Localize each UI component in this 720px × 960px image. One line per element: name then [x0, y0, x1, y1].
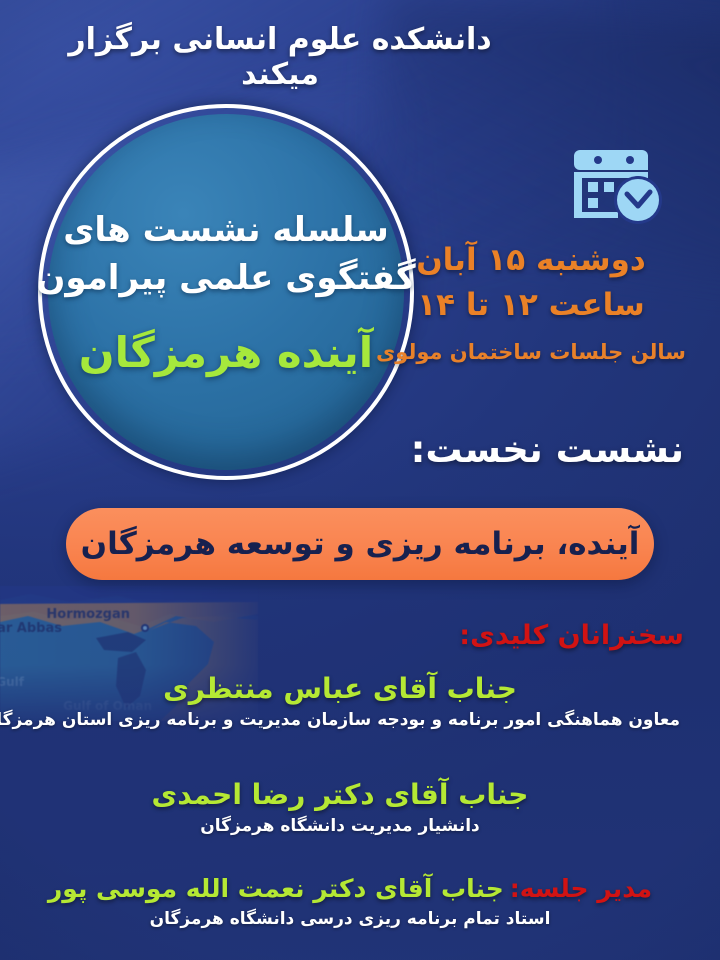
speaker-name: جناب آقای دکتر رضا احمدی [0, 778, 680, 811]
emblem-circle: سلسله نشست های گفتگوی علمی پیرامون آینده… [48, 114, 404, 470]
session-chair-row: مدیر جلسه:جناب آقای دکتر نعمت الله موسی … [0, 874, 700, 903]
poster-header-text: دانشکده علوم انسانی برگزار میکند [26, 22, 694, 92]
schedule-block: دوشنبه ۱۵ آبان ساعت ۱۲ تا ۱۴ سالن جلسات … [366, 238, 696, 364]
session-chair-affiliation: استاد تمام برنامه ریزی درسی دانشگاه هرمز… [0, 909, 700, 929]
emblem-highlight-title: آینده هرمزگان [79, 328, 373, 378]
emblem-line-2: گفتگوی علمی پیرامون [36, 254, 415, 302]
session-topic-pill: آینده، برنامه ریزی و توسعه هرمزگان [66, 508, 654, 580]
speakers-heading: سخنرانان کلیدی: [459, 620, 684, 651]
session-topic-text: آینده، برنامه ریزی و توسعه هرمزگان [81, 526, 640, 562]
calendar-clock-icon [572, 142, 668, 230]
speaker-name: جناب آقای عباس منتظری [0, 672, 680, 705]
session-chair-label: مدیر جلسه: [510, 874, 652, 903]
event-poster: Hormozgan Bandar Abbas Persian Gulf Gulf… [0, 0, 720, 960]
speaker-entry: جناب آقای عباس منتظری معاون هماهنگی امور… [0, 672, 720, 730]
event-time: ساعت ۱۲ تا ۱۴ [366, 283, 696, 328]
emblem-line-1: سلسله نشست های [63, 206, 389, 254]
event-date: دوشنبه ۱۵ آبان [366, 238, 696, 283]
session-chair-name: جناب آقای دکتر نعمت الله موسی پور [48, 874, 504, 903]
session-chair-block: مدیر جلسه:جناب آقای دکتر نعمت الله موسی … [0, 874, 720, 929]
speaker-entry: جناب آقای دکتر رضا احمدی دانشیار مدیریت … [0, 778, 720, 836]
event-venue: سالن جلسات ساختمان مولوی [366, 340, 696, 364]
speaker-affiliation: معاون هماهنگی امور برنامه و بودجه سازمان… [0, 710, 680, 730]
session-label: نشست نخست: [411, 428, 684, 471]
speaker-affiliation: دانشیار مدیریت دانشگاه هرمزگان [0, 816, 680, 836]
